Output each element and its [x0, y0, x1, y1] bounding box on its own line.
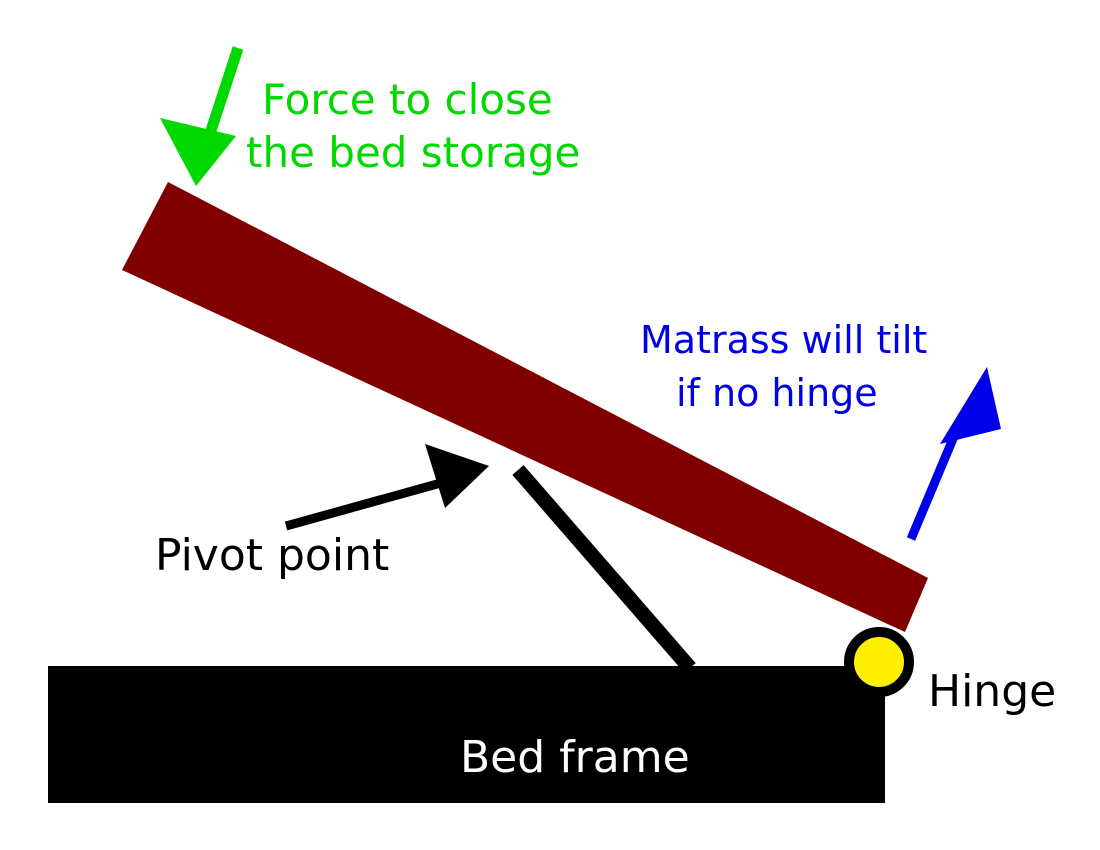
bed-storage-diagram: Force to close the bed storage Matrass w… [0, 0, 1100, 850]
diagram-canvas: Force to close the bed storage Matrass w… [0, 0, 1100, 850]
force-label-line1: Force to close [262, 75, 553, 124]
hinge-label: Hinge [928, 666, 1056, 717]
force-label-line2: the bed storage [246, 128, 580, 177]
hinge-pin-icon [849, 632, 909, 692]
pivot-point-label: Pivot point [155, 530, 389, 581]
tilt-label-line1: Matrass will tilt [640, 318, 927, 362]
tilt-label-line2: if no hinge [676, 371, 878, 415]
bed-frame-label: Bed frame [460, 732, 690, 783]
